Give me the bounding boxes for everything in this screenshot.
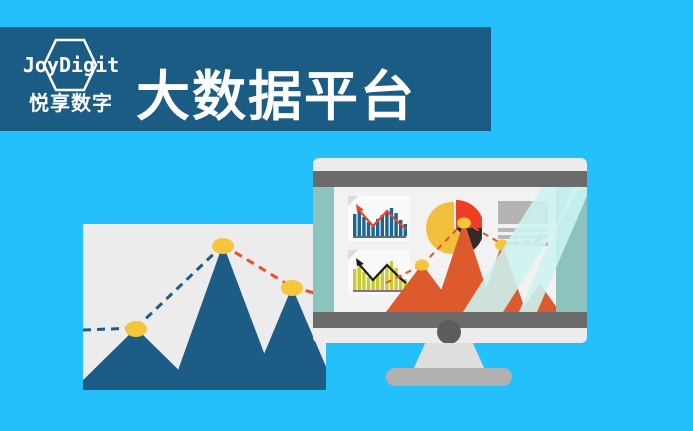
data-node — [495, 240, 509, 251]
monitor-screen — [313, 187, 587, 312]
poster-canvas: JoyDigit 悦享数字 大数据平台 — [0, 0, 693, 431]
mountain-shape-right — [478, 243, 526, 312]
logo-wordmark: JoyDigit — [16, 54, 126, 76]
data-node — [212, 238, 234, 254]
monitor-stand-neck — [413, 343, 485, 370]
left-area-chart — [83, 224, 326, 390]
mountain-shape-far-right — [520, 284, 556, 312]
screen-side-panel-right — [556, 187, 587, 312]
monitor-top-bar — [313, 171, 587, 187]
left-mountain-panel — [83, 224, 326, 390]
logo-subtext: 悦享数字 — [16, 91, 126, 115]
data-node — [281, 280, 303, 296]
widget-mountain-area-chart[interactable] — [334, 187, 556, 312]
monitor-camera-dot — [437, 320, 461, 344]
data-node — [457, 218, 471, 229]
brand-logo: JoyDigit 悦享数字 — [16, 37, 126, 121]
header-banner: JoyDigit 悦享数字 大数据平台 — [0, 27, 491, 131]
data-node — [415, 260, 429, 271]
monitor-device — [313, 158, 587, 343]
monitor-stand-base — [386, 368, 512, 386]
dashboard-content — [334, 187, 556, 312]
screen-side-panel-left — [313, 187, 334, 312]
page-title: 大数据平台 — [136, 69, 416, 125]
data-node — [125, 321, 147, 337]
